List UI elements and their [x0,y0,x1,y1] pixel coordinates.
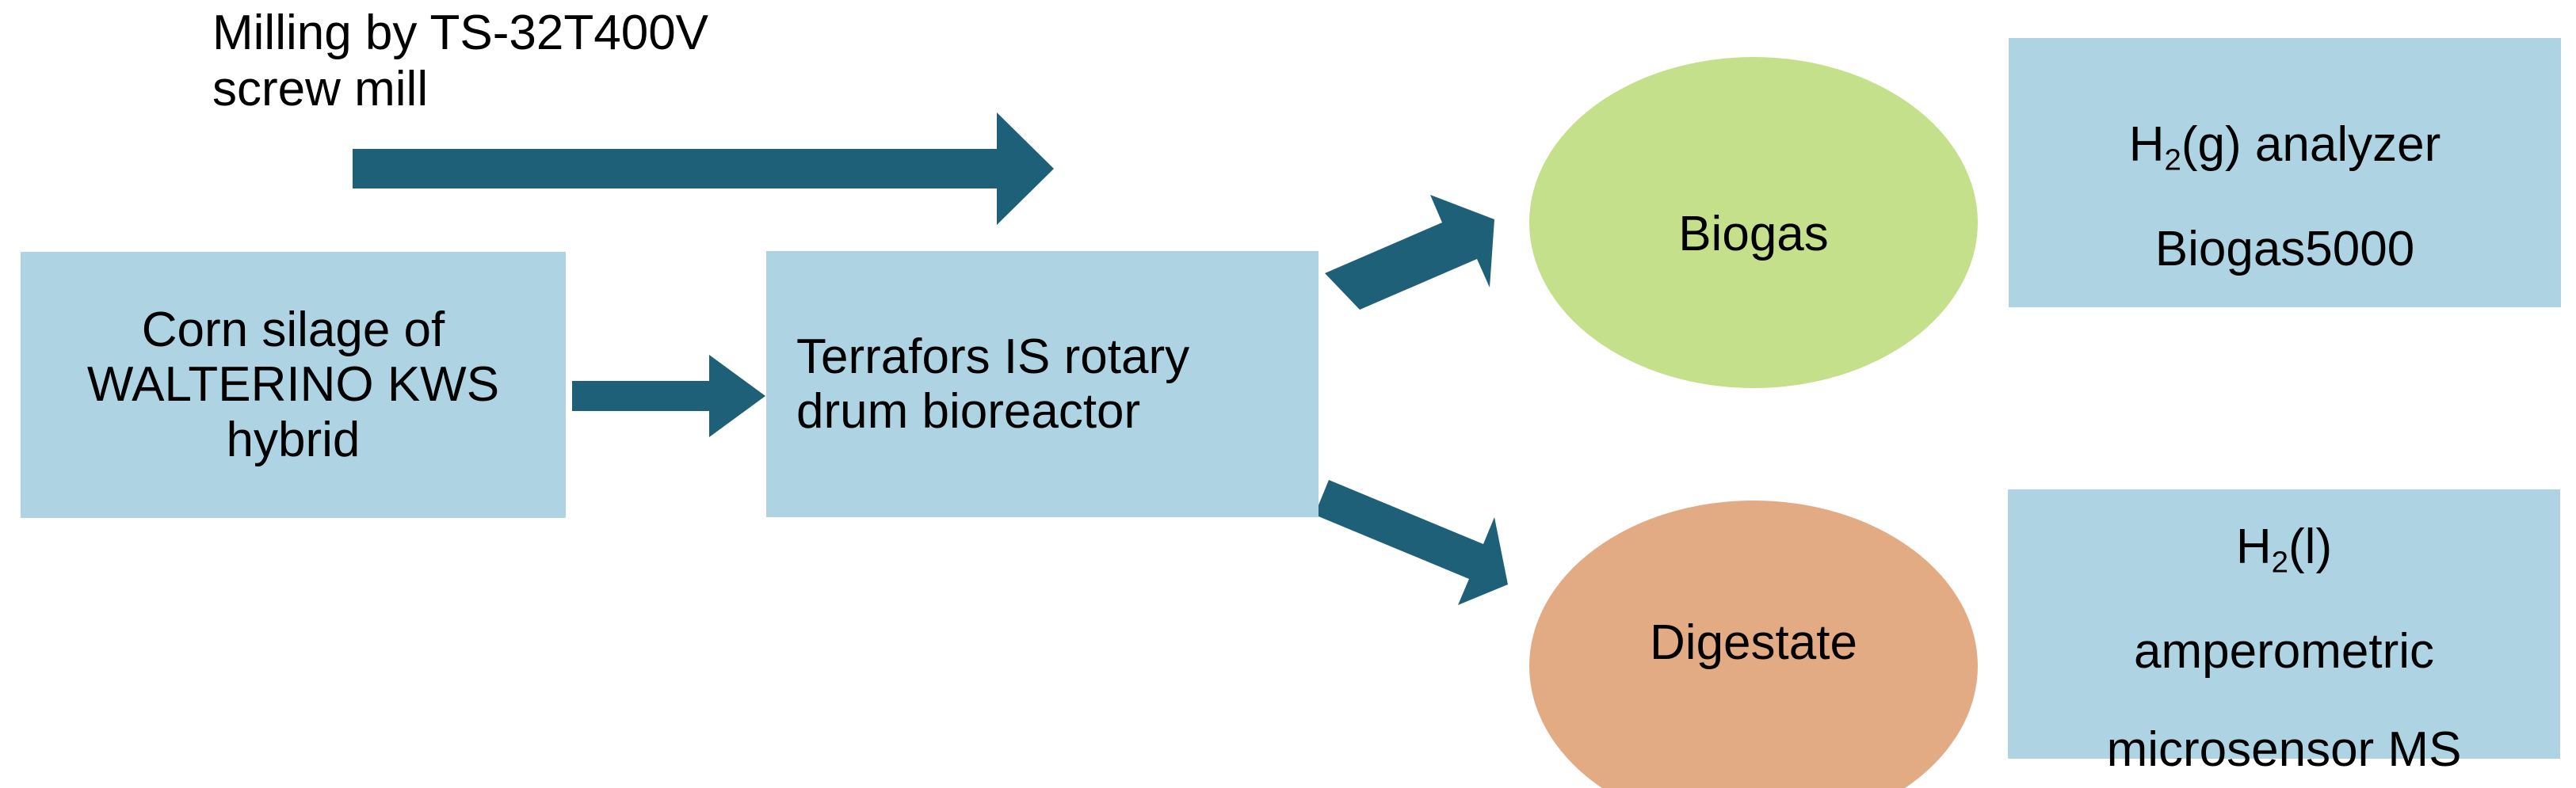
bioreactor-to-biogas-arrow [1325,195,1494,310]
node-digestate-label: Digestate [1650,615,1857,671]
gas-analyzer-subscript: 2 [2165,143,2181,177]
node-feedstock-label: Corn silage of WALTERINO KWS hybrid [87,303,499,467]
liquid-sensor-model: microsensor MS [2107,725,2462,775]
liquid-sensor-phase-suffix: (l) [2288,520,2332,574]
node-gas-analyzer[interactable]: H2(g) analyzer Biogas5000 [2009,38,2561,307]
node-liquid-sensor-label: H2(l) amperometric microsensor MS [2107,424,2462,788]
liquid-sensor-subscript: 2 [2272,546,2288,580]
liquid-sensor-h-symbol: H [2236,520,2272,574]
gas-analyzer-h-symbol: H [2129,117,2165,172]
liquid-sensor-type: amperometric [2107,627,2462,676]
node-bioreactor-label: Terrafors IS rotary drum bioreactor [796,329,1189,440]
milling-arrow [353,112,1054,225]
node-gas-analyzer-label: H2(g) analyzer Biogas5000 [2129,22,2441,323]
diagram-canvas: Milling by TS-32T400V screw mill Corn si… [0,0,2576,788]
node-liquid-sensor[interactable]: H2(l) amperometric microsensor MS [2008,489,2560,759]
bioreactor-to-digestate-arrow [1315,480,1508,605]
node-bioreactor[interactable]: Terrafors IS rotary drum bioreactor [766,251,1319,517]
node-feedstock[interactable]: Corn silage of WALTERINO KWS hybrid [21,252,566,518]
feedstock-to-bioreactor-arrow [572,355,765,437]
gas-analyzer-model: Biogas5000 [2129,225,2441,274]
node-biogas[interactable]: Biogas [1529,57,1978,388]
gas-analyzer-phase-suffix: (g) analyzer [2181,117,2441,172]
node-biogas-label: Biogas [1678,206,1829,262]
